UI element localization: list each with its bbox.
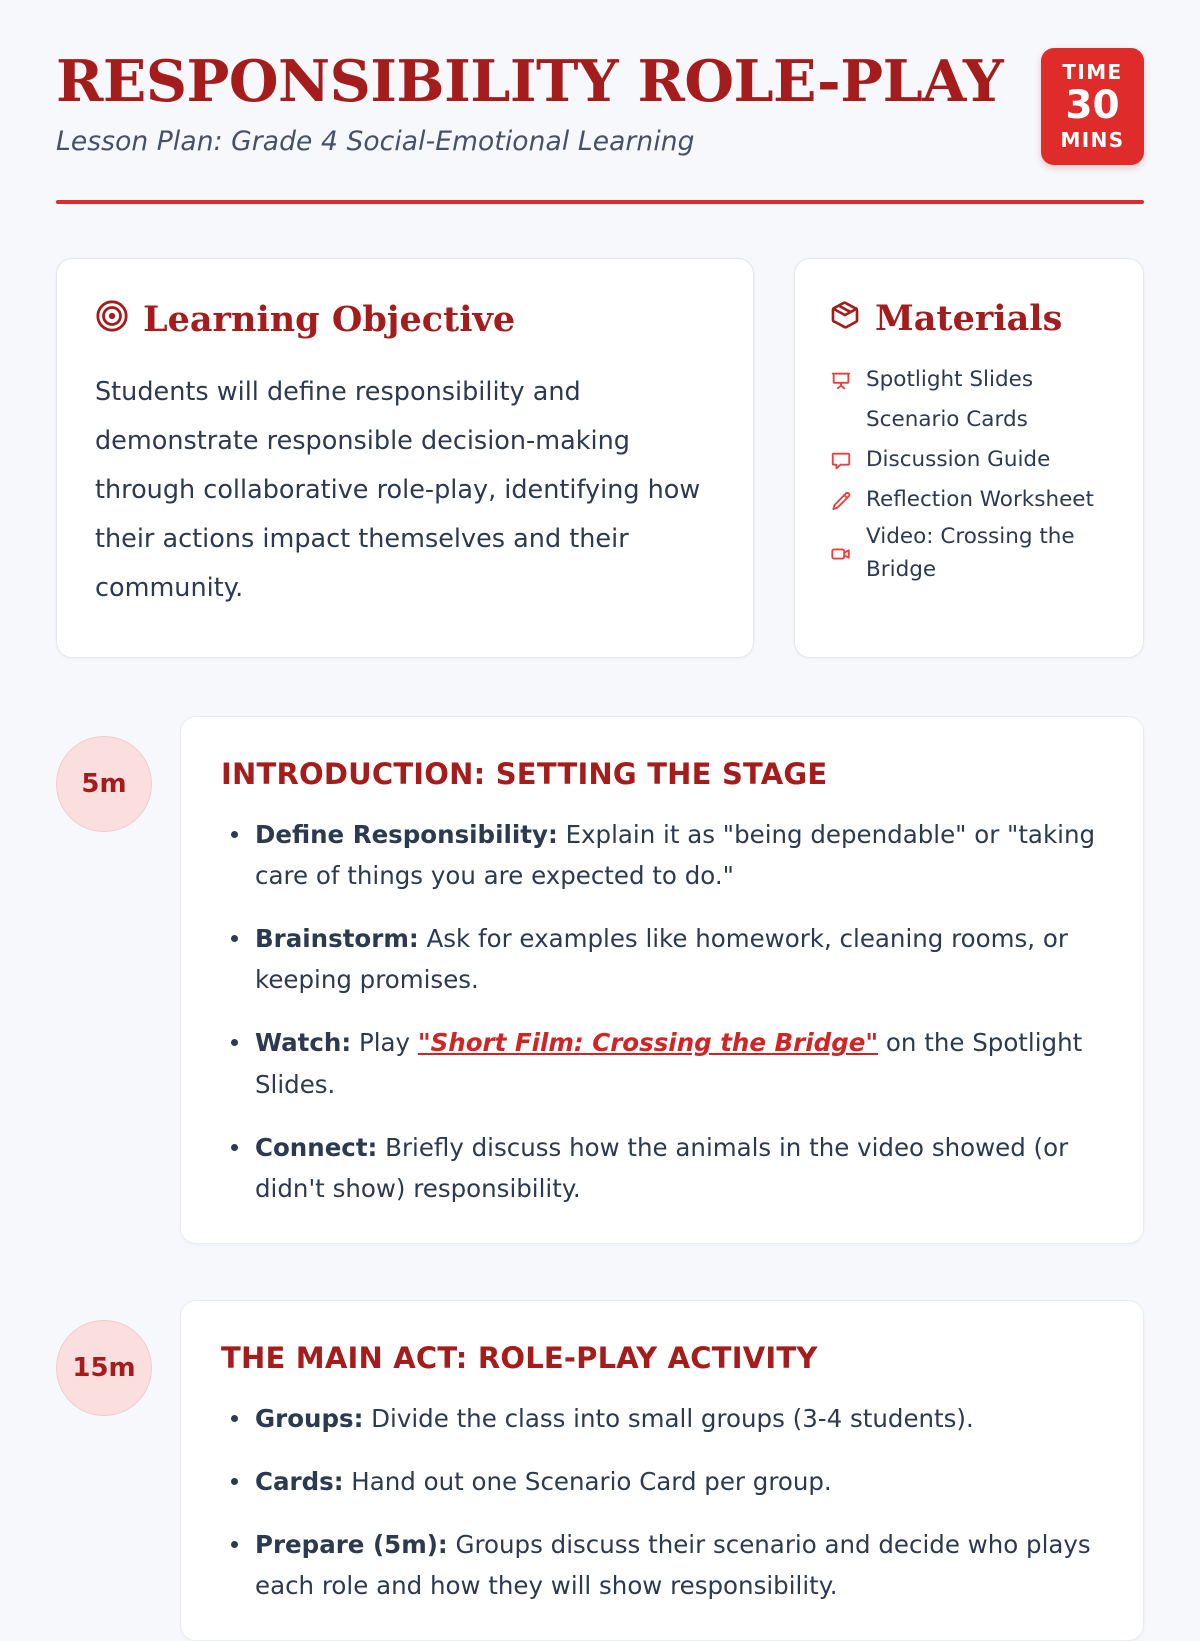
bullet-lead: Connect: (255, 1133, 377, 1162)
list-item: Reflection Worksheet (829, 481, 1117, 520)
list-item: Discussion Guide (829, 441, 1117, 480)
time-badge-unit: MINS (1049, 129, 1136, 151)
time-badge: TIME 30 MINS (1041, 48, 1144, 165)
learning-objective-heading: Learning Objective (95, 299, 713, 342)
bullet-text: Play (351, 1028, 418, 1057)
section-duration-badge: 15m (56, 1320, 152, 1416)
list-item: Spotlight Slides (829, 361, 1117, 400)
material-label: Video: Crossing the Bridge (866, 521, 1117, 586)
header-divider (56, 200, 1144, 204)
section-duration-badge: 5m (56, 736, 152, 832)
list-item: Prepare (5m): Groups discuss their scena… (221, 1524, 1099, 1606)
learning-objective-title: Learning Objective (143, 301, 515, 340)
section-card: THE MAIN ACT: ROLE-PLAY ACTIVITY Groups:… (180, 1300, 1144, 1641)
target-icon (95, 299, 129, 342)
bullet-lead: Cards: (255, 1467, 344, 1496)
list-item: Watch: Play "Short Film: Crossing the Br… (221, 1022, 1099, 1104)
learning-objective-text: Students will define responsibility and … (95, 368, 713, 613)
list-item: Scenario Cards (829, 401, 1117, 440)
lesson-section-introduction: 5m INTRODUCTION: SETTING THE STAGE Defin… (56, 716, 1144, 1244)
video-camera-icon (829, 543, 853, 565)
list-item: Connect: Briefly discuss how the animals… (221, 1127, 1099, 1209)
pencil-icon (829, 490, 853, 512)
list-item: Video: Crossing the Bridge (829, 521, 1117, 586)
learning-objective-card: Learning Objective Students will define … (56, 258, 754, 658)
materials-title: Materials (875, 300, 1062, 339)
short-film-link[interactable]: "Short Film: Crossing the Bridge" (418, 1028, 878, 1057)
material-label: Discussion Guide (866, 444, 1050, 477)
lesson-section-main-act: 15m THE MAIN ACT: ROLE-PLAY ACTIVITY Gro… (56, 1300, 1144, 1641)
section-bullet-list: Define Responsibility: Explain it as "be… (221, 814, 1099, 1209)
summary-cards-row: Learning Objective Students will define … (56, 258, 1144, 658)
material-label: Scenario Cards (866, 404, 1028, 437)
bullet-text: Briefly discuss how the animals in the v… (255, 1133, 1068, 1203)
section-title: INTRODUCTION: SETTING THE STAGE (221, 757, 1099, 792)
page-header: RESPONSIBILITY ROLE-PLAY Lesson Plan: Gr… (56, 48, 1144, 165)
speech-bubble-icon (829, 450, 853, 472)
page-subtitle: Lesson Plan: Grade 4 Social-Emotional Le… (56, 126, 1003, 157)
list-item: Cards: Hand out one Scenario Card per gr… (221, 1461, 1099, 1502)
bullet-lead: Prepare (5m): (255, 1530, 448, 1559)
list-item: Groups: Divide the class into small grou… (221, 1398, 1099, 1439)
section-card: INTRODUCTION: SETTING THE STAGE Define R… (180, 716, 1144, 1244)
header-text-block: RESPONSIBILITY ROLE-PLAY Lesson Plan: Gr… (56, 48, 1003, 157)
bullet-lead: Groups: (255, 1404, 363, 1433)
list-item: Brainstorm: Ask for examples like homewo… (221, 918, 1099, 1000)
materials-card: Materials Spotlight Slides (794, 258, 1144, 658)
materials-list: Spotlight Slides Scenario Cards Discussi… (829, 361, 1117, 586)
time-badge-value: 30 (1049, 84, 1136, 128)
list-item: Define Responsibility: Explain it as "be… (221, 814, 1099, 896)
time-badge-label: TIME (1049, 61, 1136, 83)
page-title: RESPONSIBILITY ROLE-PLAY (56, 52, 1003, 112)
material-label: Reflection Worksheet (866, 484, 1094, 517)
material-label: Spotlight Slides (866, 364, 1033, 397)
bullet-text: Divide the class into small groups (3-4 … (363, 1404, 973, 1433)
bullet-lead: Watch: (255, 1028, 351, 1057)
lesson-plan-page: RESPONSIBILITY ROLE-PLAY Lesson Plan: Gr… (0, 0, 1200, 1641)
lesson-sections: 5m INTRODUCTION: SETTING THE STAGE Defin… (56, 716, 1144, 1641)
bullet-lead: Brainstorm: (255, 924, 419, 953)
bullet-text: Hand out one Scenario Card per group. (344, 1467, 832, 1496)
bullet-lead: Define Responsibility: (255, 820, 558, 849)
materials-heading: Materials (829, 299, 1117, 340)
section-bullet-list: Groups: Divide the class into small grou… (221, 1398, 1099, 1607)
presentation-icon (829, 370, 853, 392)
section-title: THE MAIN ACT: ROLE-PLAY ACTIVITY (221, 1341, 1099, 1376)
box-icon (829, 299, 861, 340)
